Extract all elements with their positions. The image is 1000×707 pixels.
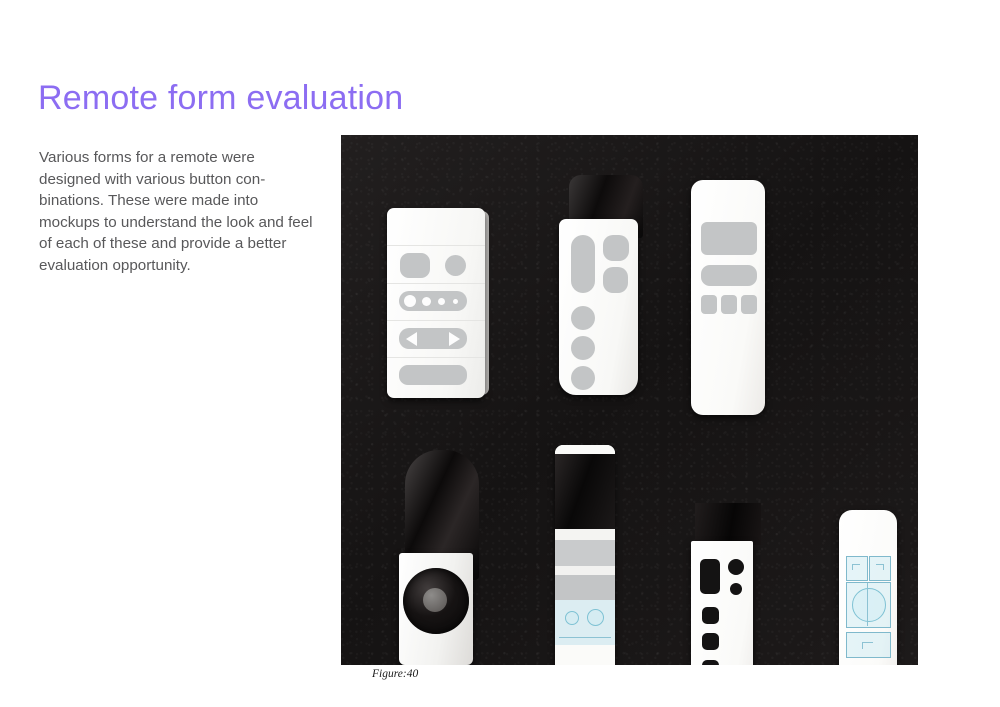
remote-6-square-2	[702, 633, 719, 650]
remote-3-square-1	[701, 295, 717, 314]
page-title: Remote form evaluation	[38, 79, 403, 118]
remote-2-button-round-2	[571, 336, 595, 360]
remote-5-white-gap	[555, 529, 615, 540]
remote-1-arrow-pill	[399, 328, 467, 349]
remote-6-body	[691, 541, 753, 665]
remote-4-dial-center-button	[423, 588, 447, 612]
remote-5-white-gap	[555, 566, 615, 575]
remote-5-gray-band-2	[555, 575, 615, 600]
remote-7-box-top-right	[869, 556, 891, 581]
remote-2-button-round-1	[571, 306, 595, 330]
remote-7-mark	[852, 564, 853, 570]
remote-7-center-circle	[852, 588, 886, 622]
remote-1-divider	[387, 283, 485, 284]
remote-3-square-2	[721, 295, 737, 314]
remote-1-divider	[387, 320, 485, 321]
remote-5-gray-band-1	[555, 540, 615, 566]
remote-5-circle-1	[565, 611, 579, 625]
remote-5-body	[555, 445, 615, 665]
remote-2-tall-pill	[571, 235, 595, 293]
remote-7-box-center	[846, 582, 891, 628]
figure-caption: Figure:40	[372, 668, 418, 680]
remote-7-mark	[852, 564, 860, 565]
remote-5-white-lip	[555, 445, 615, 454]
remote-1-dot-3	[438, 298, 445, 305]
remote-1-dot-2	[422, 297, 431, 306]
remote-7-mark	[862, 642, 873, 643]
mockup-cyan-silkscreen-remote	[839, 510, 903, 665]
remote-2-button-mid-right	[603, 267, 628, 293]
remote-2-button-top-right	[603, 235, 629, 261]
remote-3-square-3	[741, 295, 757, 314]
remote-7-box-bottom	[846, 632, 891, 658]
remote-6-rect-button	[700, 559, 720, 594]
remote-6-circle-small	[730, 583, 742, 595]
remote-7-mark	[862, 642, 863, 649]
remote-3-wide-pill	[701, 265, 757, 286]
mockup-plain-white-wand-remote	[691, 180, 773, 415]
mockup-flat-slab-remote	[387, 208, 505, 398]
mockup-black-cap-rounded-remote	[559, 175, 655, 395]
remote-2-button-round-3	[571, 366, 595, 390]
remote-1-dot-4	[453, 299, 458, 304]
remote-3-large-rect	[701, 222, 757, 255]
remote-2-body	[559, 219, 638, 395]
remote-1-body	[387, 208, 485, 398]
arrow-left-icon	[406, 332, 417, 346]
remote-1-wide-pill	[399, 365, 467, 385]
remote-6-square-1	[702, 607, 719, 624]
remote-5-cyan-band	[555, 600, 615, 645]
remote-5-black-band	[555, 454, 615, 529]
remote-7-body	[839, 510, 897, 665]
remote-6-black-top-band	[695, 503, 761, 545]
figure-image	[341, 135, 918, 665]
mockup-dial-remote	[399, 450, 499, 665]
remote-1-button-circle	[445, 255, 466, 276]
remote-7-mark	[883, 564, 884, 570]
body-paragraph: Various forms for a remote were designed…	[39, 147, 319, 276]
arrow-right-icon	[449, 332, 460, 346]
mockup-banded-remote	[555, 445, 621, 665]
remote-1-divider	[387, 245, 485, 246]
remote-6-circle-large	[728, 559, 744, 575]
remote-1-button-square	[400, 253, 430, 278]
remote-7-center-divider	[867, 583, 868, 626]
remote-3-body	[691, 180, 765, 415]
remote-5-underline	[559, 637, 611, 638]
mockup-black-button-remote	[691, 503, 763, 665]
remote-5-circle-2	[587, 609, 604, 626]
remote-1-dot-pill	[399, 291, 467, 311]
remote-1-dot-1	[404, 295, 416, 307]
remote-5-white-base	[555, 645, 615, 665]
remote-7-box-top-left	[846, 556, 868, 581]
remote-1-divider	[387, 357, 485, 358]
remote-6-square-3	[702, 660, 719, 665]
